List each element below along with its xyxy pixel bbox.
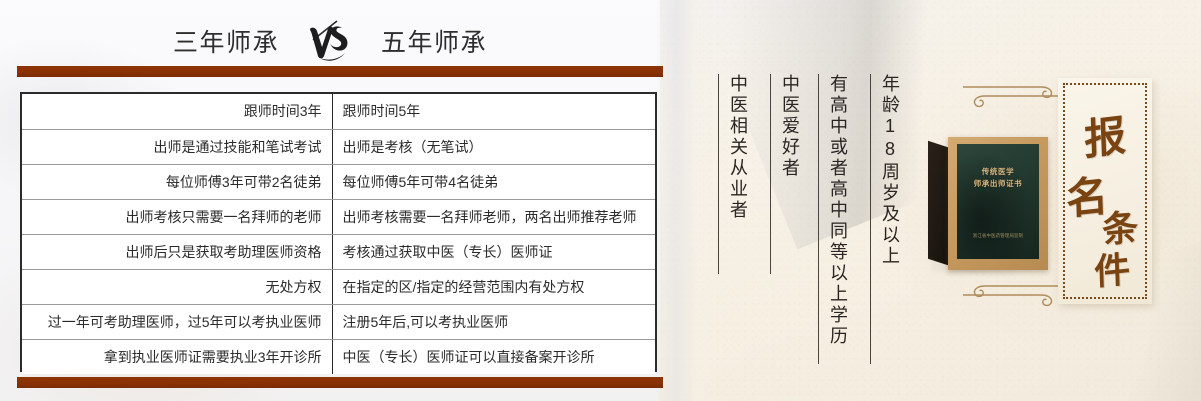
certificate-title-line1: 传统医学 (957, 166, 1039, 178)
cloud-scroll-icon-bottom (963, 283, 1063, 314)
top-divider-bar (17, 66, 663, 77)
cell-three-year: 出师后只是获取考助理医师资格 (22, 234, 332, 269)
cloud-scroll-icon-top (963, 84, 1063, 115)
cell-five-year: 出师考核需要一名拜师老师，两名出师推荐老师 (332, 199, 655, 234)
cell-five-year: 跟师时间5年 (332, 94, 655, 129)
banner-char-1: 报 (1083, 101, 1127, 167)
cell-five-year: 在指定的区/指定的经营范围内有处方权 (332, 269, 655, 304)
certificate-title-line2: 师承出师证书 (957, 178, 1039, 190)
header-title-right: 五年师承 (381, 23, 487, 59)
cell-five-year: 注册5年后,可以考执业医师 (332, 304, 655, 339)
bottom-divider-bar (17, 377, 663, 388)
header-title-left: 三年师承 (173, 23, 279, 59)
certificate-plaque: 传统医学 师承出师证书 浙江省中医药管理局监制 (948, 137, 1048, 270)
certificate-issuer: 浙江省中医药管理局监制 (957, 233, 1039, 239)
cell-five-year: 出师是考核（无笔试） (332, 129, 655, 164)
cell-three-year: 出师考核只需要一名拜师的老师 (22, 199, 332, 234)
requirement-item-age: 年龄18周岁及以上 (870, 74, 900, 364)
table-row: 过一年可考助理医师，过5年可以考执业医师 注册5年后,可以考执业医师 (22, 304, 655, 339)
comparison-table: 跟师时间3年 跟师时间5年 出师是通过技能和笔试考试 出师是考核（无笔试） 每位… (20, 92, 657, 372)
table-row: 无处方权 在指定的区/指定的经营范围内有处方权 (22, 269, 655, 304)
plaque-frame: 传统医学 师承出师证书 浙江省中医药管理局监制 (948, 137, 1048, 270)
table-row: 出师后只是获取考助理医师资格 考核通过获取中医（专长）医师证 (22, 234, 655, 269)
requirement-item-practitioner: 中医相关从业者 (718, 74, 748, 274)
requirement-item-enthusiast: 中医爱好者 (770, 74, 800, 274)
cell-five-year: 考核通过获取中医（专长）医师证 (332, 234, 655, 269)
banner-calligraphy: 报 名 条 件 (1058, 78, 1152, 304)
certificate-cover: 传统医学 师承出师证书 浙江省中医药管理局监制 (957, 144, 1039, 259)
table-row: 出师是通过技能和笔试考试 出师是考核（无笔试） (22, 129, 655, 164)
banner-char-4: 件 (1093, 240, 1131, 296)
requirement-item-education: 有高中或者高中同等以上学历 (818, 74, 848, 364)
certificate-title: 传统医学 师承出师证书 (957, 166, 1039, 189)
cell-three-year: 出师是通过技能和笔试考试 (22, 129, 332, 164)
cell-three-year: 无处方权 (22, 269, 332, 304)
table-row: 拿到执业医师证需要执业3年开诊所 中医（专长）医师证可以直接备案开诊所 (22, 339, 655, 374)
table-row: 跟师时间3年 跟师时间5年 (22, 94, 655, 129)
vs-icon (307, 20, 353, 62)
registration-requirements-banner: 报 名 条 件 (1058, 78, 1152, 304)
comparison-header: 三年师承 五年师承 (0, 18, 660, 64)
cell-five-year: 每位师傅5年可带4名徒弟 (332, 164, 655, 199)
table-row: 出师考核只需要一名拜师的老师 出师考核需要一名拜师老师，两名出师推荐老师 (22, 199, 655, 234)
cell-five-year: 中医（专长）医师证可以直接备案开诊所 (332, 339, 655, 374)
table-row: 每位师傅3年可带2名徒弟 每位师傅5年可带4名徒弟 (22, 164, 655, 199)
cell-three-year: 跟师时间3年 (22, 94, 332, 129)
cell-three-year: 过一年可考助理医师，过5年可以考执业医师 (22, 304, 332, 339)
cell-three-year: 每位师傅3年可带2名徒弟 (22, 164, 332, 199)
page-root: 三年师承 五年师承 跟师时间3年 跟师时间5年 出师是通过技能和笔试考试 出 (0, 0, 1201, 401)
cell-three-year: 拿到执业医师证需要执业3年开诊所 (22, 339, 332, 374)
requirements-list: 年龄18周岁及以上 有高中或者高中同等以上学历 中医爱好者 中医相关从业者 (700, 74, 900, 374)
